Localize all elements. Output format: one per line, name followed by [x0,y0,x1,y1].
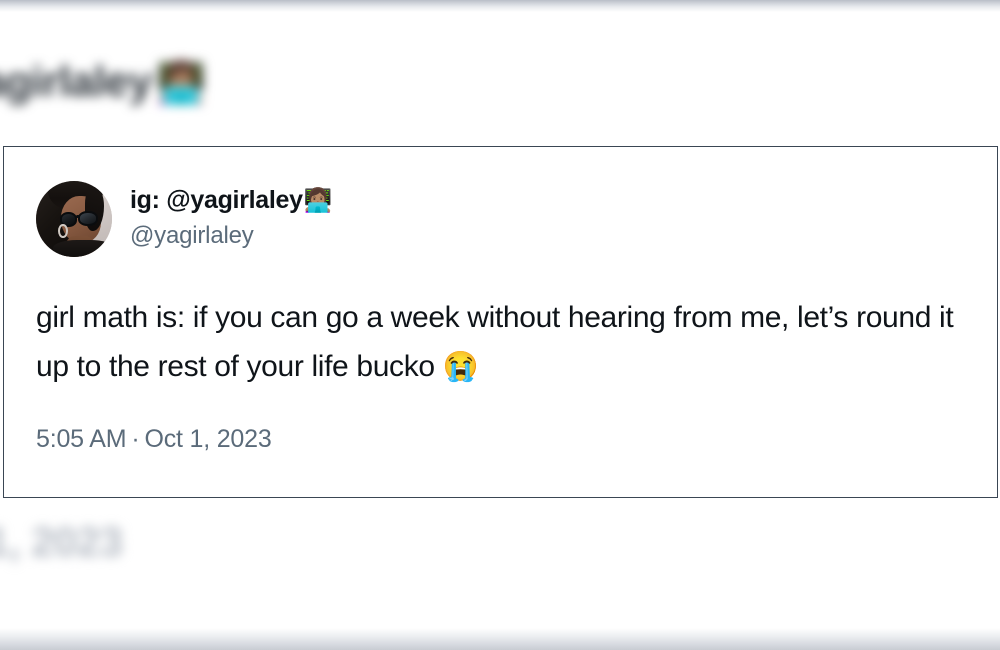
woman-technologist-icon: 👩🏽‍💻 [156,59,205,106]
blurred-background-date: 1, 2023 [0,518,123,566]
woman-technologist-icon: 👩🏽‍💻 [304,187,332,215]
author-display-name-text: ig: @yagirlaley [130,185,303,215]
tweet-author-names: ig: @yagirlaley 👩🏽‍💻 @yagirlaley [130,181,332,251]
author-display-name[interactable]: ig: @yagirlaley 👩🏽‍💻 [130,185,332,215]
timestamp-separator-dot: · [131,425,139,453]
tweet-text: girl math is: if you can go a week witho… [36,294,965,391]
author-handle[interactable]: @yagirlaley [130,222,332,251]
tweet-timestamp[interactable]: 5:05 AM·Oct 1, 2023 [36,425,965,454]
avatar[interactable] [36,181,112,257]
embedded-tweet-card[interactable]: ig: @yagirlaley 👩🏽‍💻 @yagirlaley girl ma… [3,146,998,498]
tweet-header: ig: @yagirlaley 👩🏽‍💻 @yagirlaley [36,181,965,257]
tweet-text-content: girl math is: if you can go a week witho… [36,301,953,383]
tweet-timestamp-time: 5:05 AM [36,425,126,453]
tweet-timestamp-date: Oct 1, 2023 [144,425,271,453]
blurred-background-header: agirlaley 👩🏽‍💻 [0,58,205,107]
avatar-hoop-earring [58,224,68,238]
bottom-edge-gradient-band [0,628,1000,650]
top-edge-gradient-band [0,0,1000,12]
blurred-background-header-text: agirlaley [0,58,152,107]
loudly-crying-face-icon: 😭 [443,351,479,383]
avatar-sunglasses-lens-right [78,211,98,225]
avatar-shoulder [53,240,112,257]
